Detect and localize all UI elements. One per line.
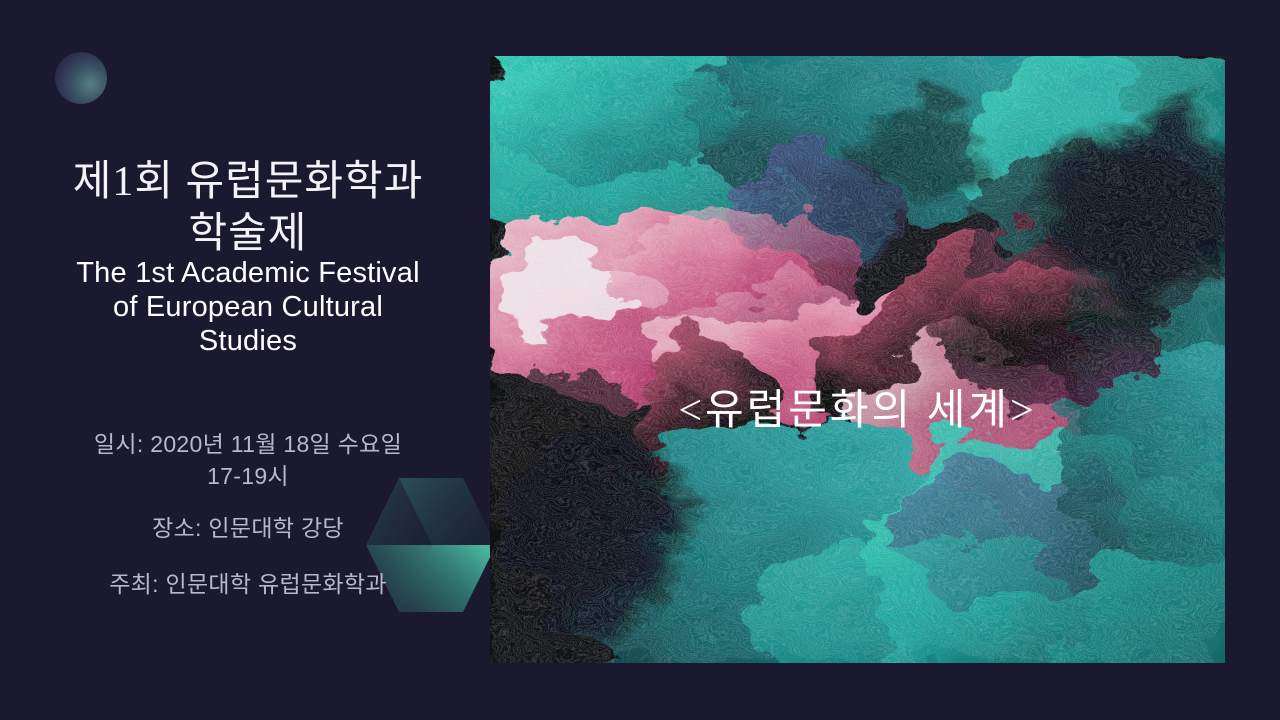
title-en-line-1: The 1st Academic Festival	[18, 256, 478, 290]
page-title-korean: 제1회 유럽문화학과 학술제	[18, 156, 478, 260]
artwork-image: <유럽문화의 세계>	[490, 56, 1225, 663]
event-datetime-line-2: 17-19시	[18, 460, 478, 492]
title-ko-line-2: 학술제	[18, 208, 478, 260]
title-en-line-3: Studies	[18, 324, 478, 358]
event-host: 주최: 인문대학 유럽문화학과	[18, 568, 478, 600]
presentation-slide: 제1회 유럽문화학과 학술제 The 1st Academic Festival…	[0, 0, 1280, 720]
page-title-english: The 1st Academic Festival of European Cu…	[18, 256, 478, 358]
event-place: 장소: 인문대학 강당	[18, 512, 478, 544]
title-ko-line-1: 제1회 유럽문화학과	[18, 156, 478, 208]
title-en-line-2: of European Cultural	[18, 290, 478, 324]
event-datetime-line-1: 일시: 2020년 11월 18일 수요일	[18, 428, 478, 460]
text-panel: 제1회 유럽문화학과 학술제 The 1st Academic Festival…	[18, 0, 478, 720]
event-datetime: 일시: 2020년 11월 18일 수요일 17-19시	[18, 428, 478, 492]
